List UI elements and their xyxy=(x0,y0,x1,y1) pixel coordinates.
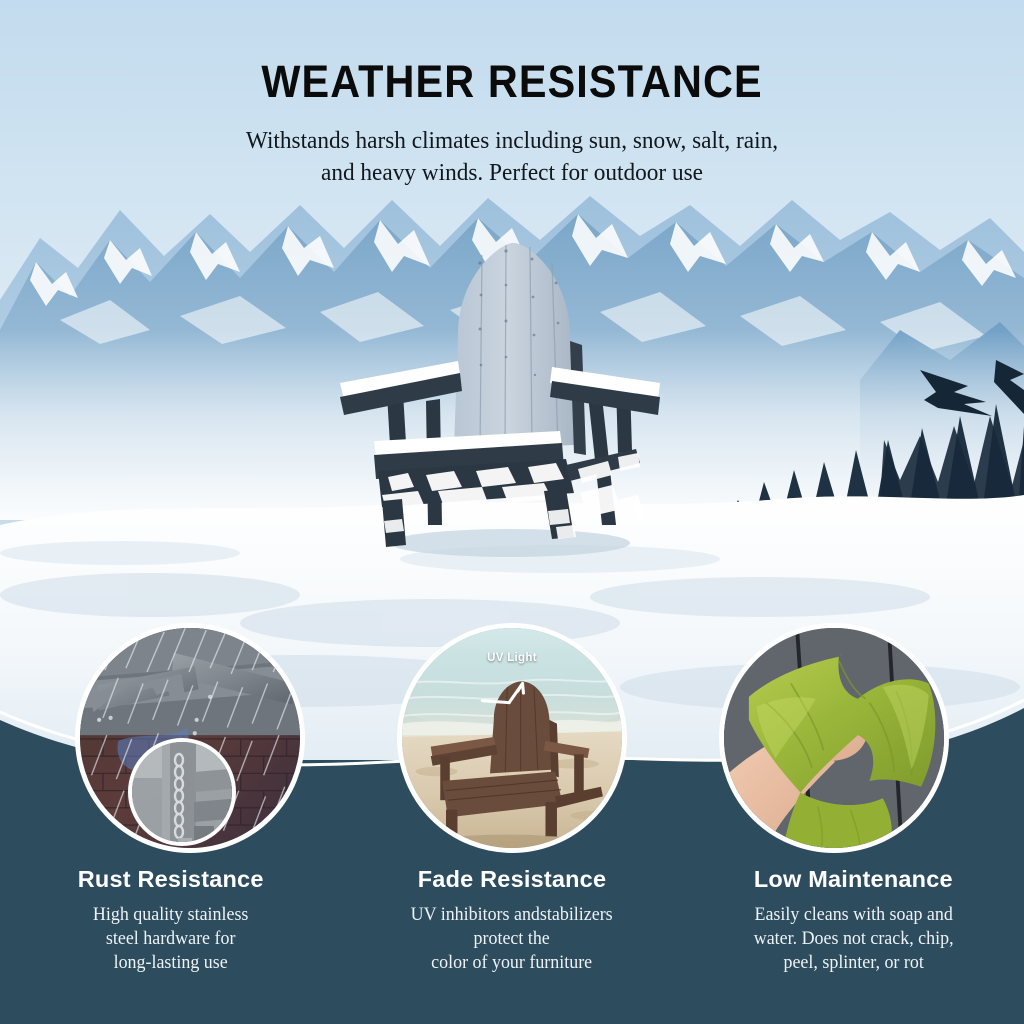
uv-light-label: UV Light xyxy=(487,652,537,664)
feature-description-low-maintenance: Easily cleans with soap and water. Does … xyxy=(701,904,1005,976)
infographic-root: WEATHER RESISTANCE Withstands harsh clim… xyxy=(0,0,1024,1024)
feature-circle-fade-resistance[interactable]: UV Light xyxy=(397,623,627,853)
feature-circle-rust-resistance[interactable] xyxy=(75,623,305,853)
feature-description-fade-resistance: UV inhibitors andstabilizers protect the… xyxy=(360,904,664,976)
feature-title-fade-resistance: Fade Resistance xyxy=(355,866,668,893)
low-maintenance-image xyxy=(724,628,944,848)
feature-rust-resistance: Rust Resistance High quality stainless s… xyxy=(0,866,341,976)
feature-low-maintenance: Low Maintenance Easily cleans with soap … xyxy=(683,866,1024,976)
page-subtitle: Withstands harsh climates including sun,… xyxy=(26,125,999,190)
feature-text-row: Rust Resistance High quality stainless s… xyxy=(0,866,1024,976)
feature-description-rust-resistance: High quality stainless steel hardware fo… xyxy=(19,904,323,976)
feature-title-rust-resistance: Rust Resistance xyxy=(14,866,327,893)
page-title: WEATHER RESISTANCE xyxy=(41,56,983,108)
feature-image-circles: UV Light xyxy=(0,623,1024,863)
feature-title-low-maintenance: Low Maintenance xyxy=(697,866,1010,893)
adirondack-chair-snow xyxy=(330,225,690,565)
feature-fade-resistance: Fade Resistance UV inhibitors andstabili… xyxy=(341,866,682,976)
subtitle-line-1: Withstands harsh climates including sun,… xyxy=(26,125,999,157)
hardware-closeup-inset xyxy=(128,738,236,846)
feature-circle-low-maintenance[interactable] xyxy=(719,623,949,853)
header-block: WEATHER RESISTANCE Withstands harsh clim… xyxy=(0,0,1024,190)
subtitle-line-2: and heavy winds. Perfect for outdoor use xyxy=(26,157,999,189)
